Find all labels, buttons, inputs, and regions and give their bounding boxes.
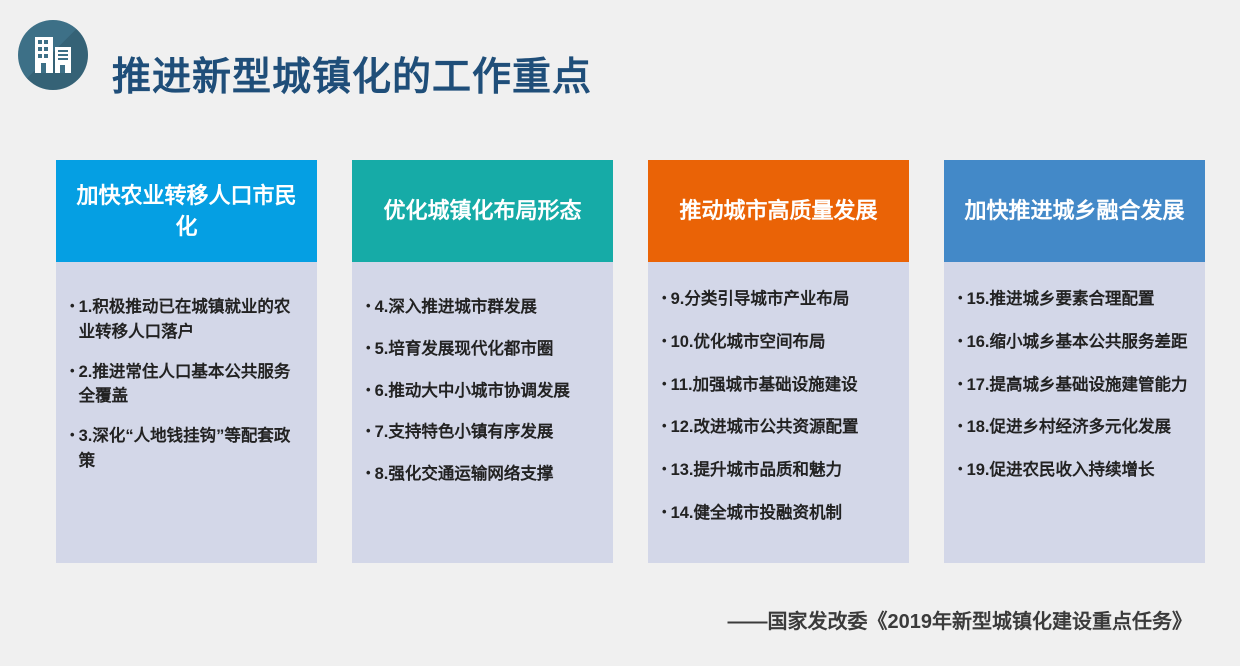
card-header-1: 加快农业转移人口市民化 <box>56 160 317 262</box>
list-item[interactable]: • 9.分类引导城市产业布局 <box>662 287 895 312</box>
bullet-icon: • <box>70 295 79 316</box>
list-item-text: 6.推动大中小城市协调发展 <box>375 379 599 404</box>
list-item[interactable]: • 5.培育发展现代化都市圈 <box>366 337 599 362</box>
list-item-text: 17.提高城乡基础设施建管能力 <box>967 373 1191 398</box>
list-item[interactable]: • 2.推进常住人口基本公共服务全覆盖 <box>70 360 303 410</box>
bullet-icon: • <box>366 295 375 316</box>
list-item[interactable]: • 6.推动大中小城市协调发展 <box>366 379 599 404</box>
bullet-icon: • <box>70 360 79 381</box>
list-item[interactable]: • 17.提高城乡基础设施建管能力 <box>958 373 1191 398</box>
card-header-2: 优化城镇化布局形态 <box>352 160 613 262</box>
bullet-icon: • <box>662 330 671 351</box>
bullet-icon: • <box>366 462 375 483</box>
list-item[interactable]: • 4.深入推进城市群发展 <box>366 295 599 320</box>
list-item[interactable]: • 14.健全城市投融资机制 <box>662 501 895 526</box>
bullet-icon: • <box>70 424 79 445</box>
bullet-icon: • <box>366 420 375 441</box>
bullet-icon: • <box>958 415 967 436</box>
list-item[interactable]: • 3.深化“人地钱挂钩”等配套政策 <box>70 424 303 474</box>
list-item-text: 10.优化城市空间布局 <box>671 330 895 355</box>
bullet-icon: • <box>958 458 967 479</box>
list-item[interactable]: • 13.提升城市品质和魅力 <box>662 458 895 483</box>
card-urbanization-of-migrant-population[interactable]: 加快农业转移人口市民化 • 1.积极推动已在城镇就业的农业转移人口落户 • 2.… <box>56 160 317 563</box>
list-item[interactable]: • 8.强化交通运输网络支撑 <box>366 462 599 487</box>
list-item-text: 14.健全城市投融资机制 <box>671 501 895 526</box>
list-item[interactable]: • 15.推进城乡要素合理配置 <box>958 287 1191 312</box>
list-item-text: 7.支持特色小镇有序发展 <box>375 420 599 445</box>
bullet-icon: • <box>662 415 671 436</box>
card-body-2: • 4.深入推进城市群发展 • 5.培育发展现代化都市圈 • 6.推动大中小城市… <box>352 262 613 563</box>
bullet-icon: • <box>662 458 671 479</box>
bullet-icon: • <box>662 501 671 522</box>
list-item-text: 5.培育发展现代化都市圈 <box>375 337 599 362</box>
list-item-text: 15.推进城乡要素合理配置 <box>967 287 1191 312</box>
list-item[interactable]: • 1.积极推动已在城镇就业的农业转移人口落户 <box>70 295 303 345</box>
card-group: 加快农业转移人口市民化 • 1.积极推动已在城镇就业的农业转移人口落户 • 2.… <box>56 160 1208 563</box>
card-urban-rural-integration[interactable]: 加快推进城乡融合发展 • 15.推进城乡要素合理配置 • 16.缩小城乡基本公共… <box>944 160 1205 563</box>
list-item[interactable]: • 12.改进城市公共资源配置 <box>662 415 895 440</box>
list-item-text: 2.推进常住人口基本公共服务全覆盖 <box>79 360 303 410</box>
list-item[interactable]: • 11.加强城市基础设施建设 <box>662 373 895 398</box>
bullet-icon: • <box>366 337 375 358</box>
list-item[interactable]: • 7.支持特色小镇有序发展 <box>366 420 599 445</box>
bullet-icon: • <box>662 373 671 394</box>
card-header-3: 推动城市高质量发展 <box>648 160 909 262</box>
list-item-text: 4.深入推进城市群发展 <box>375 295 599 320</box>
card-body-3: • 9.分类引导城市产业布局 • 10.优化城市空间布局 • 11.加强城市基础… <box>648 262 909 563</box>
list-item[interactable]: • 19.促进农民收入持续增长 <box>958 458 1191 483</box>
list-item-text: 9.分类引导城市产业布局 <box>671 287 895 312</box>
list-item-text: 11.加强城市基础设施建设 <box>671 373 895 398</box>
slide-header: 推进新型城镇化的工作重点 <box>0 0 1240 120</box>
bullet-icon: • <box>366 379 375 400</box>
bullet-icon: • <box>662 287 671 308</box>
card-body-4: • 15.推进城乡要素合理配置 • 16.缩小城乡基本公共服务差距 • 17.提… <box>944 262 1205 563</box>
list-item-text: 1.积极推动已在城镇就业的农业转移人口落户 <box>79 295 303 345</box>
card-body-1: • 1.积极推动已在城镇就业的农业转移人口落户 • 2.推进常住人口基本公共服务… <box>56 262 317 563</box>
list-item[interactable]: • 10.优化城市空间布局 <box>662 330 895 355</box>
list-item[interactable]: • 16.缩小城乡基本公共服务差距 <box>958 330 1191 355</box>
list-item-text: 18.促进乡村经济多元化发展 <box>967 415 1191 440</box>
bullet-icon: • <box>958 330 967 351</box>
card-header-4: 加快推进城乡融合发展 <box>944 160 1205 262</box>
card-high-quality-city-development[interactable]: 推动城市高质量发展 • 9.分类引导城市产业布局 • 10.优化城市空间布局 •… <box>648 160 909 563</box>
source-citation: ——国家发改委《2019年新型城镇化建设重点任务》 <box>728 605 1193 634</box>
list-item-text: 16.缩小城乡基本公共服务差距 <box>967 330 1191 355</box>
list-item-text: 3.深化“人地钱挂钩”等配套政策 <box>79 424 303 474</box>
list-item-text: 19.促进农民收入持续增长 <box>967 458 1191 483</box>
list-item[interactable]: • 18.促进乡村经济多元化发展 <box>958 415 1191 440</box>
building-icon <box>18 20 88 90</box>
list-item-text: 13.提升城市品质和魅力 <box>671 458 895 483</box>
list-item-text: 8.强化交通运输网络支撑 <box>375 462 599 487</box>
card-optimize-urban-layout[interactable]: 优化城镇化布局形态 • 4.深入推进城市群发展 • 5.培育发展现代化都市圈 •… <box>352 160 613 563</box>
bullet-icon: • <box>958 373 967 394</box>
list-item-text: 12.改进城市公共资源配置 <box>671 415 895 440</box>
page-title: 推进新型城镇化的工作重点 <box>112 50 592 107</box>
bullet-icon: • <box>958 287 967 308</box>
